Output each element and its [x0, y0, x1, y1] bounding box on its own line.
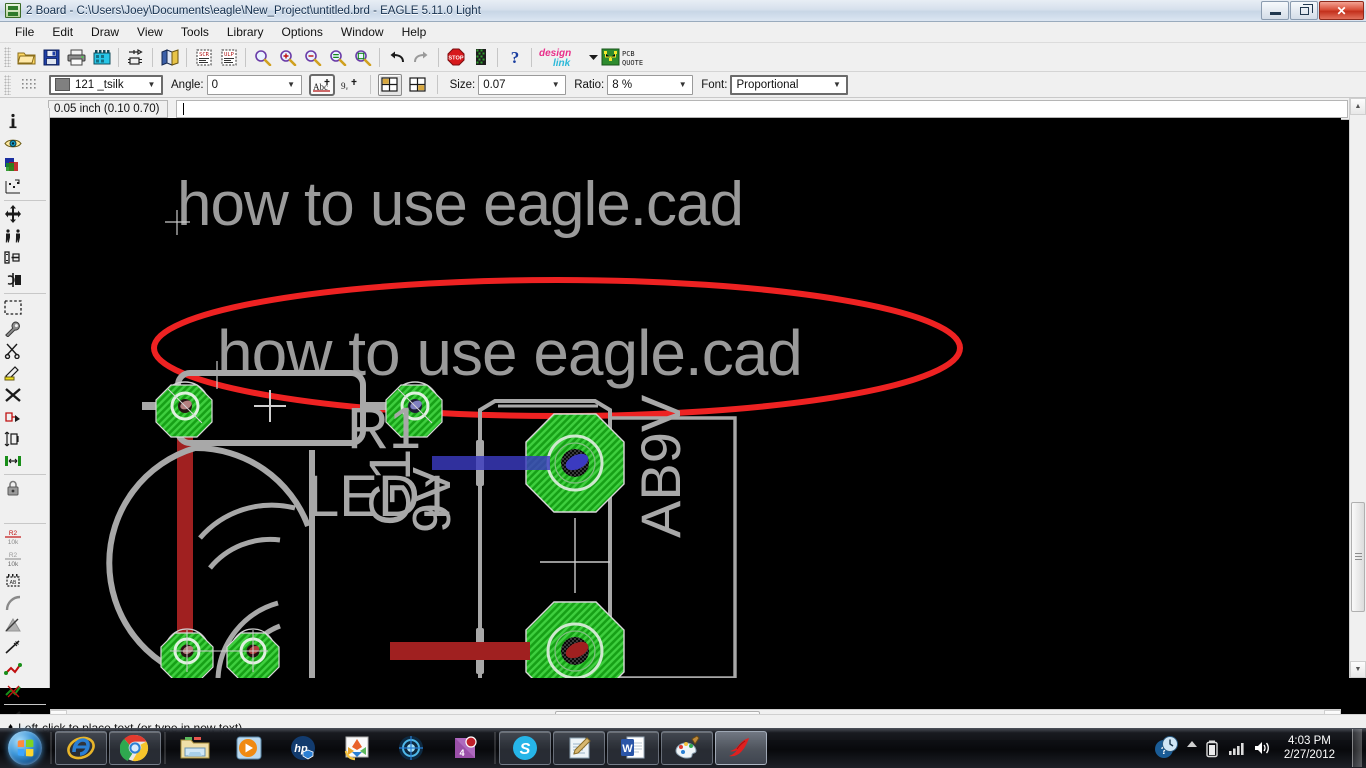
title-bar: 2 Board - C:\Users\Joey\Documents\eagle\… [0, 0, 1366, 22]
board-drawing: how to use eagle.cad how to use eagle.ca… [50, 118, 1341, 678]
design-link-button[interactable]: design link [536, 45, 586, 69]
angle-label: Angle: [171, 79, 204, 91]
font-select[interactable]: Proportional ▼ [730, 75, 848, 95]
optimize-icon[interactable] [0, 636, 25, 658]
menu-item-window[interactable]: Window [332, 22, 393, 42]
split-icon[interactable] [0, 614, 25, 636]
parameter-toolbar-grip[interactable] [4, 75, 11, 95]
taskbar-windows-explorer[interactable] [169, 731, 221, 765]
help-icon[interactable]: ? [502, 45, 527, 69]
mirror-text-icon[interactable]: Abc [309, 74, 335, 96]
value-icon[interactable]: R2 10k [0, 548, 25, 570]
layer-color-swatch [55, 78, 70, 91]
vertical-scrollbar[interactable]: ▲ ▼ [1349, 98, 1366, 678]
save-icon[interactable] [39, 45, 64, 69]
toolbar-grip[interactable] [4, 47, 11, 67]
miter-icon[interactable] [0, 592, 25, 614]
coordinate-display: 0.05 inch (0.10 0.70) [48, 100, 168, 118]
pinswap-icon[interactable] [0, 428, 25, 450]
chevron-down-icon: ▼ [144, 80, 159, 89]
menu-item-help[interactable]: Help [393, 22, 436, 42]
show-eye-icon[interactable] [0, 132, 25, 154]
close-button[interactable]: ✕ [1319, 1, 1364, 20]
tool-palette: R2 10k R2 10k AB [0, 108, 50, 688]
eagle-board-icon [5, 3, 21, 18]
size-select[interactable]: 0.07 ▼ [478, 75, 566, 95]
svg-text:10k: 10k [7, 539, 18, 546]
drc-ratsnest-icon[interactable] [468, 45, 493, 69]
move-icon[interactable] [0, 203, 25, 225]
redo-icon[interactable] [409, 45, 434, 69]
cut-icon[interactable] [0, 340, 25, 362]
scroll-down-button[interactable]: ▼ [1350, 661, 1366, 678]
svg-text:AB: AB [9, 580, 16, 586]
window-title: 2 Board - C:\Users\Joey\Documents\eagle\… [26, 5, 481, 17]
ripup-icon[interactable] [0, 680, 25, 702]
clock-time: 4:03 PM [1284, 734, 1335, 748]
taskbar-divider [50, 732, 52, 764]
taskbar-windows-media-player[interactable] [223, 731, 275, 765]
wrench-edit-icon[interactable] [0, 318, 25, 340]
route-icon[interactable] [0, 658, 25, 680]
windows-taskbar: hp [0, 728, 1366, 768]
stop-icon[interactable]: STOP [443, 45, 468, 69]
spin-text-icon[interactable]: 9ᵥ [338, 73, 363, 97]
label-AB9V[interactable]: AB9V [629, 394, 692, 538]
menu-item-file[interactable]: File [6, 22, 43, 42]
cam-processor-icon[interactable] [89, 45, 114, 69]
open-icon[interactable] [14, 45, 39, 69]
minimize-button[interactable] [1261, 1, 1289, 20]
chevron-down-icon: ▼ [284, 80, 299, 89]
zoom-out-icon[interactable] [300, 45, 325, 69]
smash-icon[interactable]: AB [0, 570, 25, 592]
text-align-grid-icon[interactable] [378, 74, 402, 96]
taskbar-internet-explorer[interactable] [55, 731, 107, 765]
ratio-select[interactable]: 8 % ▼ [607, 75, 693, 95]
restore-button[interactable] [1290, 1, 1318, 20]
taskbar-globe-app[interactable] [385, 731, 437, 765]
replace-icon[interactable] [0, 450, 25, 472]
show-desktop-button[interactable] [1352, 729, 1362, 767]
label-9V[interactable]: 9V [402, 467, 462, 533]
svg-text:4: 4 [459, 748, 464, 758]
mark-icon[interactable] [0, 176, 25, 198]
zoom-in-icon[interactable] [275, 45, 300, 69]
pcb-quote-button[interactable]: PCB QUOTE [600, 45, 656, 69]
svg-text:R2: R2 [8, 530, 17, 537]
taskbar-skype[interactable]: S [499, 731, 551, 765]
window-controls: ✕ [1261, 1, 1364, 20]
parameter-toolbar: 121 _tsilk ▼ Angle: 0 ▼ Abc 9ᵥ [0, 72, 1366, 98]
svg-text:ULP: ULP [224, 52, 234, 58]
chevron-down-icon: ▼ [675, 80, 690, 89]
display-layers-icon[interactable] [0, 154, 25, 176]
svg-text:S: S [520, 741, 531, 758]
info-icon[interactable] [0, 110, 25, 132]
chevron-down-icon: ▼ [829, 80, 844, 89]
taskbar-purple-app[interactable]: 4 [439, 731, 491, 765]
taskbar-divider-3 [494, 732, 496, 764]
silkscreen-text-top[interactable]: how to use eagle.cad [165, 170, 743, 239]
size-label: Size: [450, 79, 476, 91]
zoom-select-icon[interactable] [350, 45, 375, 69]
clock-date: 2/27/2012 [1284, 748, 1335, 762]
scroll-up-button[interactable]: ▲ [1350, 98, 1366, 115]
action-center-icon[interactable]: ? [1153, 735, 1179, 761]
svg-text:how to use eagle.cad: how to use eagle.cad [177, 170, 743, 239]
ratio-label: Ratio: [574, 79, 604, 91]
taskbar-paint[interactable] [661, 731, 713, 765]
rotate-icon[interactable] [0, 247, 25, 269]
silkscreen-text-placed[interactable]: how to use eagle.cad [205, 317, 802, 389]
menu-item-options[interactable]: Options [273, 22, 332, 42]
taskbar-divider-2 [164, 732, 166, 764]
menu-item-tools[interactable]: Tools [172, 22, 218, 42]
network-signal-icon[interactable] [1228, 740, 1246, 757]
svg-text:STOP: STOP [448, 56, 463, 62]
show-hidden-icons-chevron[interactable] [1186, 740, 1198, 757]
zoom-fit-icon[interactable] [250, 45, 275, 69]
svg-text:PCB: PCB [622, 50, 635, 58]
taskbar-google-chrome[interactable] [109, 731, 161, 765]
size-value: 0.07 [483, 79, 505, 91]
svg-text:?: ? [510, 48, 519, 66]
library-icon[interactable] [157, 45, 182, 69]
text-caret [183, 103, 184, 115]
angle-value: 0 [212, 79, 218, 91]
text-align-grid-alt-icon[interactable] [405, 73, 430, 97]
board-canvas[interactable]: how to use eagle.cad how to use eagle.ca… [50, 118, 1341, 678]
add-part-icon[interactable] [0, 406, 25, 428]
main-toolbar: SCR ULP [0, 43, 1366, 72]
delete-icon[interactable] [0, 384, 25, 406]
menu-item-library[interactable]: Library [218, 22, 273, 42]
taskbar-notepad[interactable] [553, 731, 605, 765]
menu-item-edit[interactable]: Edit [43, 22, 82, 42]
menu-item-draw[interactable]: Draw [82, 22, 128, 42]
volume-icon[interactable] [1253, 740, 1271, 757]
svg-text:9ᵥ: 9ᵥ [341, 81, 349, 91]
angle-select[interactable]: 0 ▼ [207, 75, 302, 95]
menu-bar: File Edit Draw View Tools Library Option… [0, 22, 1366, 43]
taskbar-hp-support[interactable]: hp [277, 731, 329, 765]
group-select-icon[interactable] [0, 296, 25, 318]
taskbar-microsoft-word[interactable]: W [607, 731, 659, 765]
name-icon[interactable]: R2 10k [0, 526, 25, 548]
svg-text:SCR: SCR [199, 52, 209, 58]
system-tray: ? [1153, 728, 1366, 768]
lock-icon[interactable] [0, 477, 25, 499]
windows-start-orb-icon [8, 731, 42, 765]
layer-select-value: 121 _tsilk [75, 79, 124, 91]
undo-icon[interactable] [384, 45, 409, 69]
ratio-value: 8 % [612, 79, 632, 91]
board-schematic-switch-icon[interactable] [123, 45, 148, 69]
font-label: Font: [701, 79, 727, 91]
script-icon[interactable]: SCR [191, 45, 216, 69]
taskbar-eagle[interactable] [715, 731, 767, 765]
taskbar-photo-viewer[interactable] [331, 731, 383, 765]
design-link-dropdown-icon[interactable] [586, 45, 600, 69]
svg-text:QUOTE: QUOTE [622, 59, 643, 67]
battery-icon[interactable] [1205, 740, 1221, 757]
ulp-icon[interactable]: ULP [216, 45, 241, 69]
eagle-board-window: 2 Board - C:\Users\Joey\Documents\eagle\… [0, 0, 1366, 768]
command-input[interactable] [176, 100, 1348, 118]
zoom-redraw-icon[interactable] [325, 45, 350, 69]
paste-icon[interactable] [0, 362, 25, 384]
menu-item-view[interactable]: View [128, 22, 172, 42]
svg-text:10k: 10k [7, 561, 18, 568]
design-link-word2: link [553, 58, 571, 69]
svg-text:R2: R2 [8, 552, 17, 559]
coordinate-command-bar: 0.05 inch (0.10 0.70) ▼ [0, 98, 1366, 120]
chevron-down-icon: ▼ [548, 80, 563, 89]
start-button[interactable] [2, 730, 48, 766]
svg-text:W: W [622, 743, 633, 755]
layer-select[interactable]: 121 _tsilk ▼ [49, 75, 163, 95]
mirror-icon[interactable] [0, 225, 25, 247]
taskbar-clock[interactable]: 4:03 PM 2/27/2012 [1278, 734, 1341, 762]
change-icon[interactable] [0, 269, 25, 291]
grid-icon[interactable] [17, 73, 42, 97]
svg-text:how to use eagle.cad: how to use eagle.cad [217, 317, 802, 389]
font-value: Proportional [736, 79, 798, 91]
vertical-scroll-thumb[interactable] [1351, 502, 1365, 612]
print-icon[interactable] [64, 45, 89, 69]
